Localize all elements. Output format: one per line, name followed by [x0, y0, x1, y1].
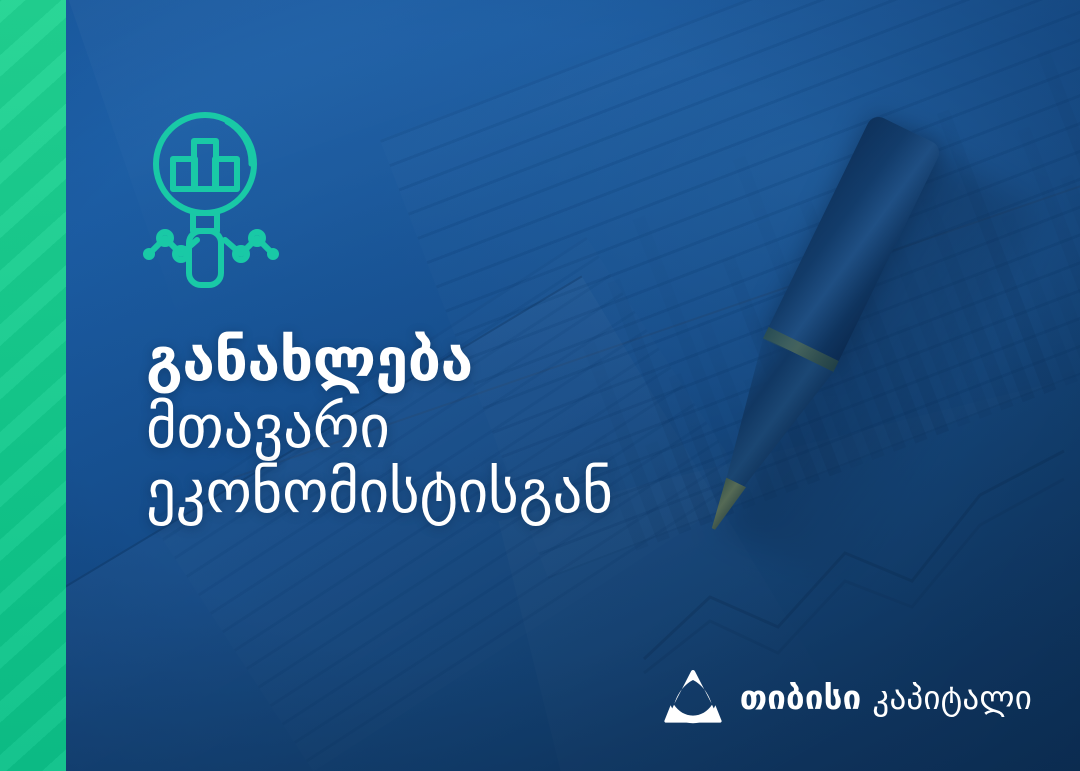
- left-green-accent-bar: [0, 0, 66, 771]
- banner-root: განახლება მთავარი ეკონომისტისგან თიბისიკ…: [0, 0, 1080, 771]
- printed-chart-column: [921, 196, 1014, 411]
- right-node-line: [225, 232, 279, 260]
- headline-line-1: განახლება: [146, 330, 866, 391]
- headline: განახლება მთავარი ეკონომისტისგან: [146, 330, 866, 526]
- printed-chart-column: [974, 272, 1035, 403]
- printed-chart-column: [1060, 174, 1080, 361]
- headline-line-3: ეკონომისტისგან: [146, 462, 866, 523]
- magnifier-chart-icon: [143, 108, 303, 288]
- bar-chart-inside-lens: [173, 141, 237, 189]
- logo-wordmark: თიბისიკაპიტალი: [740, 681, 1032, 714]
- printed-chart-column: [923, 265, 992, 419]
- printed-chart-column: [854, 152, 970, 427]
- printed-chart-column: [1037, 49, 1080, 352]
- printed-chart-column: [1001, 213, 1078, 386]
- tbc-capital-logo: თიბისიკაპიტალი: [662, 669, 1032, 725]
- logo-brand-name: თიბისი: [740, 678, 862, 717]
- printed-chart-column: [937, 109, 1057, 394]
- logo-sub-name: კაპიტალი: [872, 678, 1032, 717]
- printed-chart-column: [896, 323, 949, 435]
- tbc-triangle-mark: [662, 669, 724, 725]
- printed-chart-column: [1048, 270, 1080, 377]
- headline-line-2: მთავარი: [146, 397, 866, 458]
- printed-chart-column: [1017, 127, 1080, 370]
